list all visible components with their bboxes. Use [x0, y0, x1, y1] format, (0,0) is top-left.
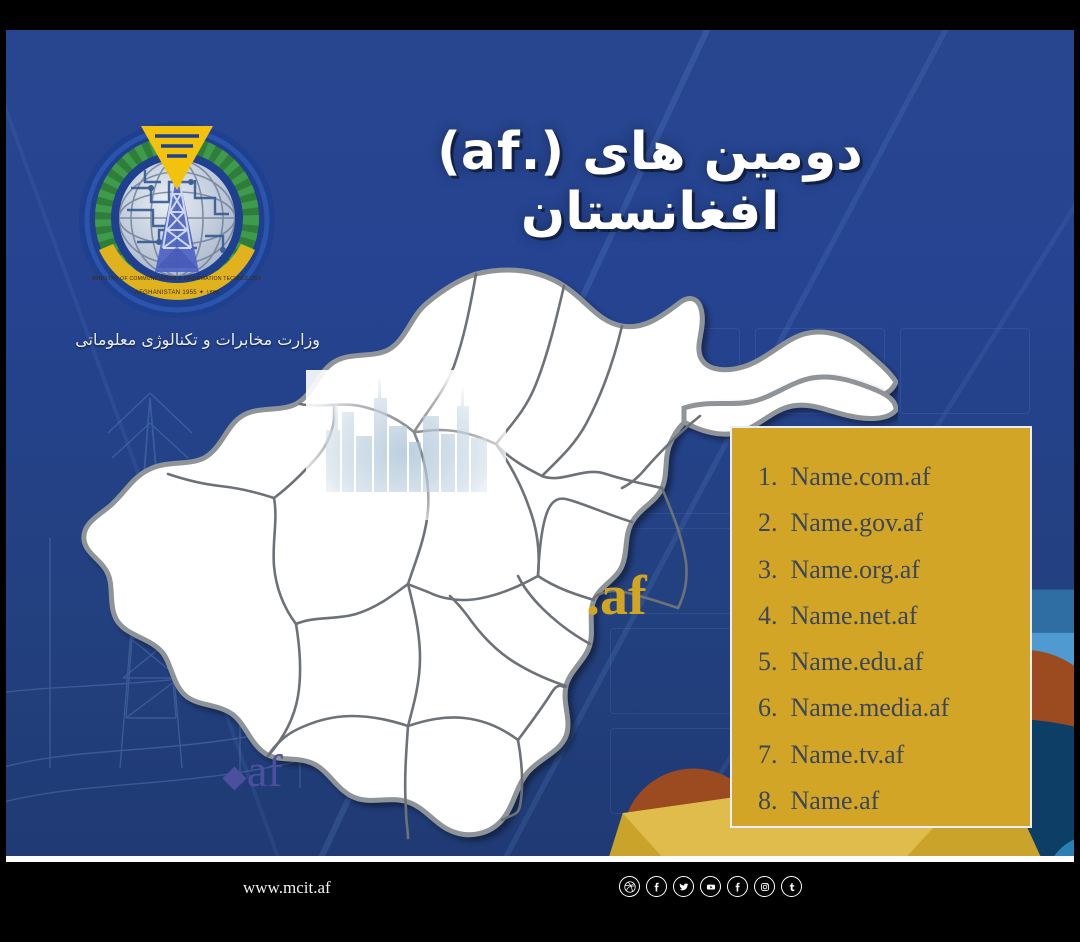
facebook-icon[interactable]: [646, 876, 667, 897]
domain-item-name: Name.tv.af: [784, 740, 904, 769]
domain-item-number: 8.: [758, 778, 784, 824]
domain-list-item[interactable]: 3. Name.org.af: [758, 547, 1030, 593]
twitter-icon[interactable]: [673, 876, 694, 897]
domain-list-item[interactable]: 5. Name.edu.af: [758, 639, 1030, 685]
ministry-name-label: وزارت مخابرات و تکنالوژی معلوماتی: [60, 330, 320, 349]
domain-list-item[interactable]: 1. Name.com.af: [758, 454, 1030, 500]
domain-list-item[interactable]: 7. Name.tv.af: [758, 732, 1030, 778]
domain-list: 1. Name.com.af2. Name.gov.af3. Name.org.…: [758, 454, 1030, 824]
domain-list-panel: 1. Name.com.af2. Name.gov.af3. Name.org.…: [730, 426, 1032, 828]
domain-item-name: Name.com.af: [784, 462, 931, 491]
footer-website-url[interactable]: www.mcit.af: [243, 878, 331, 898]
svg-text:MINISTRY OF COMMUNICATION & IN: MINISTRY OF COMMUNICATION & INFORMATION …: [92, 276, 262, 282]
social-links-row: [619, 876, 802, 897]
domain-list-item[interactable]: 8. Name.af: [758, 778, 1030, 824]
instagram-icon[interactable]: [754, 876, 775, 897]
dribbble-icon[interactable]: [619, 876, 640, 897]
poster-root: UNIVERSITY .af: [0, 0, 1080, 942]
svg-text:AFGHANISTAN 1955 ✦ ١٣٣٤: AFGHANISTAN 1955 ✦ ١٣٣٤: [135, 289, 219, 296]
tumblr-icon[interactable]: [781, 876, 802, 897]
label-af-gold: .af: [586, 568, 647, 624]
left-edge-rail: [0, 0, 6, 942]
domain-item-number: 5.: [758, 639, 784, 685]
mcit-emblem-icon: AFGHANISTAN 1955 ✦ ١٣٣٤ MINISTRY OF COMM…: [75, 118, 280, 323]
diamond-dot-icon: [222, 766, 246, 790]
domain-item-number: 2.: [758, 500, 784, 546]
domain-item-number: 3.: [758, 547, 784, 593]
top-black-band: [0, 0, 1080, 30]
domain-list-item[interactable]: 6. Name.media.af: [758, 685, 1030, 731]
footer-divider-rule: [0, 856, 1080, 862]
domain-item-name: Name.org.af: [784, 555, 920, 584]
domain-item-name: Name.edu.af: [784, 647, 923, 676]
domain-item-number: 7.: [758, 732, 784, 778]
domain-item-number: 6.: [758, 685, 784, 731]
poster-canvas: UNIVERSITY .af: [0, 30, 1080, 858]
facebook-icon-2[interactable]: [727, 876, 748, 897]
footer-bar: [0, 862, 1080, 942]
right-edge-rail: [1074, 0, 1080, 942]
page-title: دومین های (.af) افغانستان: [300, 122, 1000, 242]
domain-item-name: Name.net.af: [784, 601, 918, 630]
domain-list-item[interactable]: 4. Name.net.af: [758, 593, 1030, 639]
domain-list-item[interactable]: 2. Name.gov.af: [758, 500, 1030, 546]
domain-item-number: 4.: [758, 593, 784, 639]
domain-item-name: Name.af: [784, 786, 879, 815]
label-af-blue: af: [226, 748, 283, 794]
domain-item-number: 1.: [758, 454, 784, 500]
youtube-icon[interactable]: [700, 876, 721, 897]
domain-item-name: Name.media.af: [784, 693, 949, 722]
domain-item-name: Name.gov.af: [784, 508, 923, 537]
label-af-blue-text: af: [247, 748, 283, 794]
ministry-logo-block: AFGHANISTAN 1955 ✦ ١٣٣٤ MINISTRY OF COMM…: [60, 118, 300, 378]
